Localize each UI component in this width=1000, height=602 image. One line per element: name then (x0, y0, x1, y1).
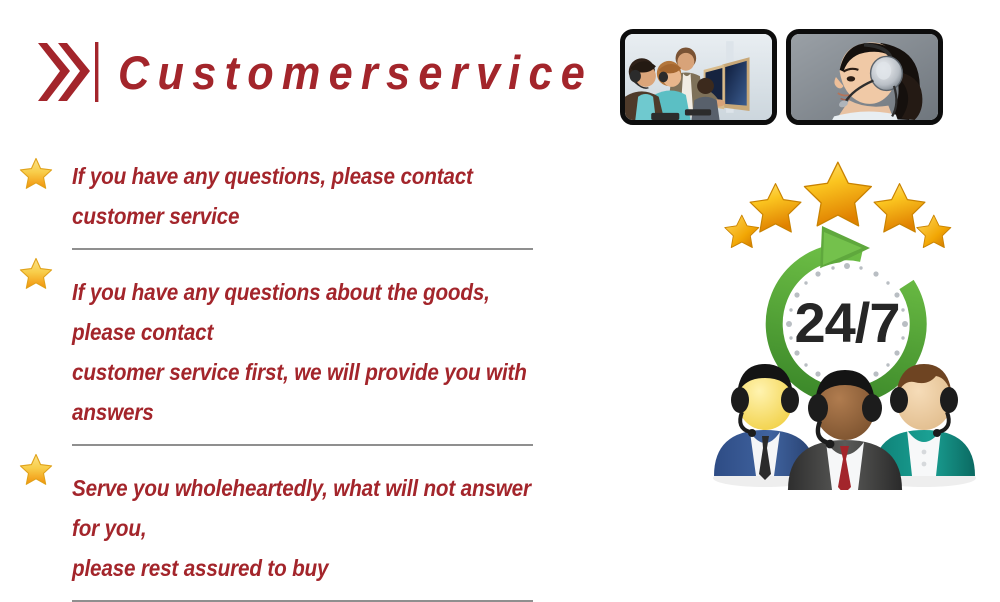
page-title: Customerservice (118, 44, 593, 102)
list-item-label: Serve you wholeheartedly, what will not … (72, 468, 554, 588)
header-photo-strip (620, 29, 943, 125)
list-item-label: If you have any questions, please contac… (72, 156, 554, 236)
star-icon (18, 256, 54, 292)
benefits-list: If you have any questions, please contac… (0, 150, 620, 602)
clock-face: 24/7 (785, 262, 909, 386)
list-item: If you have any questions about the good… (0, 250, 620, 446)
page-header: Customerservice (0, 0, 1000, 140)
star-icon (18, 156, 54, 192)
list-item: If you have any questions, please contac… (0, 150, 620, 250)
24-7-support-illustration: 24/7 (702, 160, 992, 490)
headset-agent-photo (786, 29, 943, 125)
list-item-label: If you have any questions about the good… (72, 272, 554, 432)
vertical-bar-icon (95, 42, 98, 102)
call-center-team-photo (620, 29, 777, 125)
list-item: Serve you wholeheartedly, what will not … (0, 446, 620, 602)
clock-label: 24/7 (795, 291, 900, 354)
star-icon (18, 452, 54, 488)
double-chevron-icon (36, 41, 100, 103)
